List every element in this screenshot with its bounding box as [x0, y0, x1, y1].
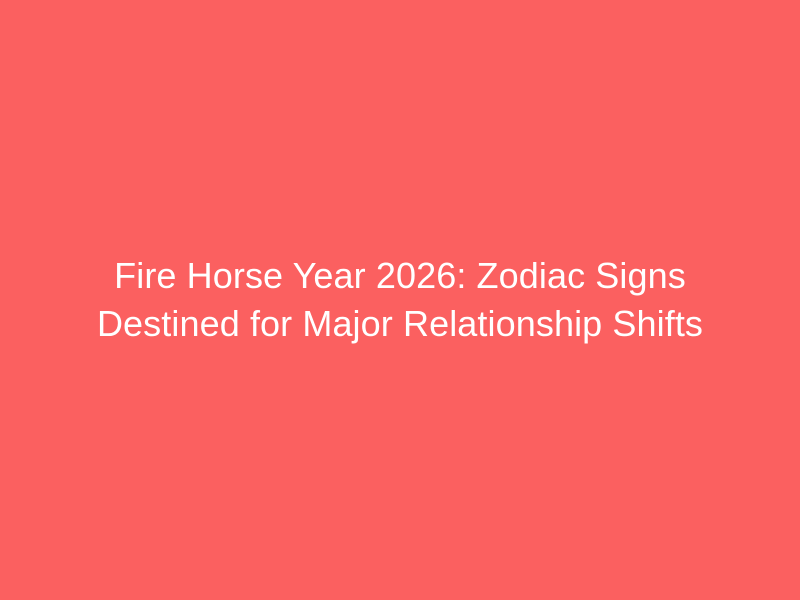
title-block: Fire Horse Year 2026: Zodiac Signs Desti… [20, 252, 780, 348]
page-title: Fire Horse Year 2026: Zodiac Signs Desti… [40, 252, 760, 348]
share-card: Fire Horse Year 2026: Zodiac Signs Desti… [0, 0, 800, 600]
